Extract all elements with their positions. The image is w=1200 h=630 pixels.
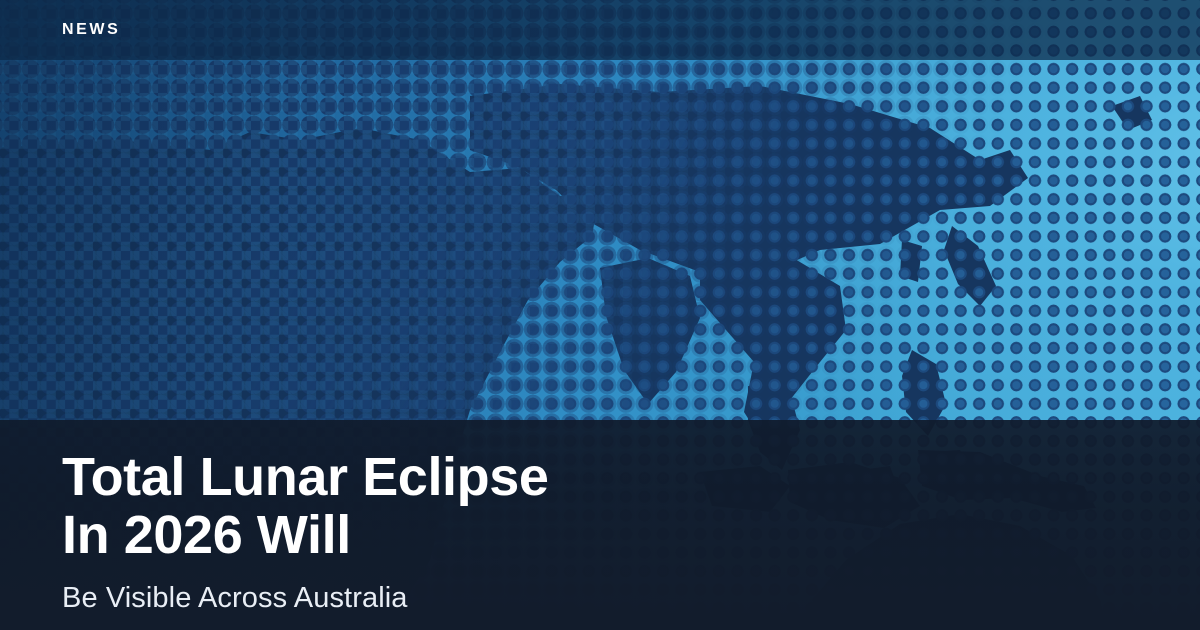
top-news-band: NEWS <box>0 0 1200 60</box>
news-share-card: NEWS Total Lunar Eclipse In 2026 Will Be… <box>0 0 1200 630</box>
news-kicker-label: NEWS <box>62 21 120 39</box>
headline-subtitle: Be Visible Across Australia <box>62 581 782 616</box>
headline-title: Total Lunar Eclipse In 2026 Will <box>62 448 782 565</box>
headline-block: Total Lunar Eclipse In 2026 Will Be Visi… <box>62 448 782 615</box>
